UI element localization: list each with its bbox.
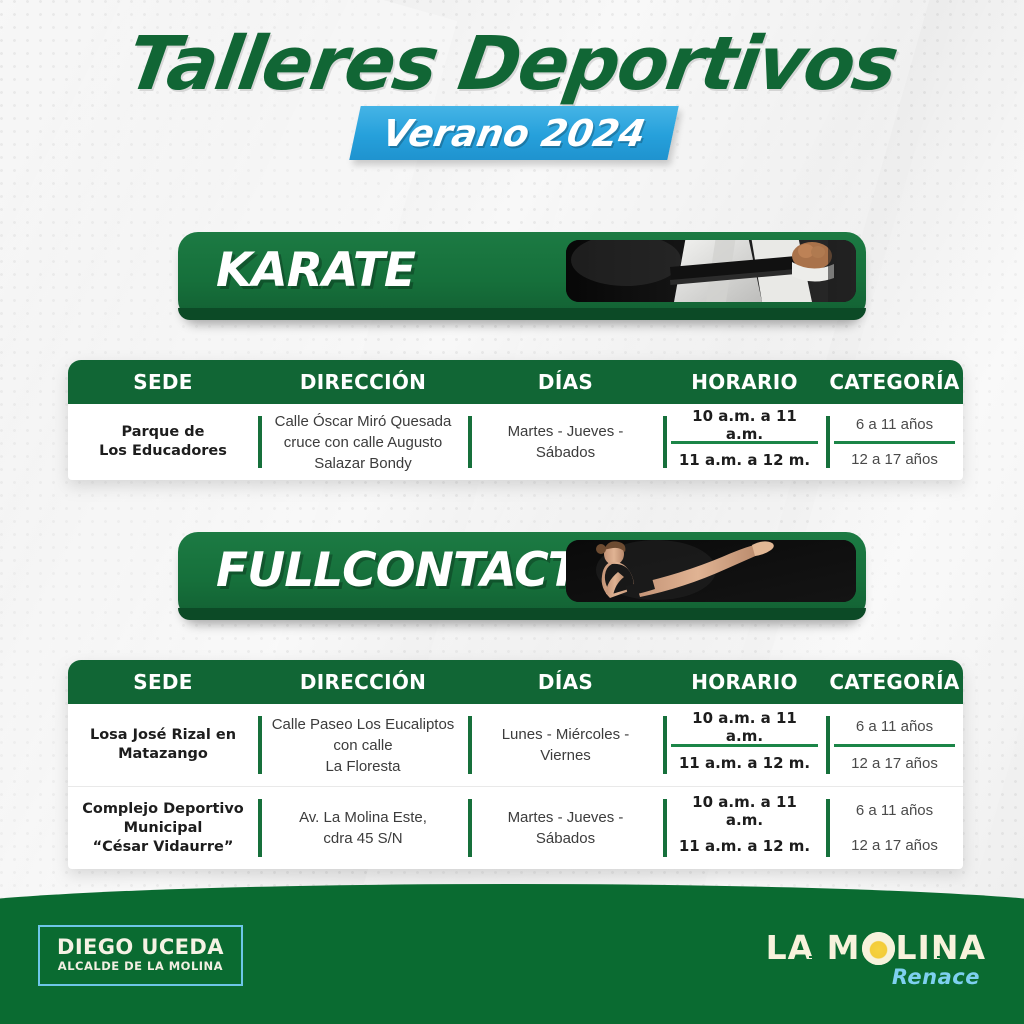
cell-direccion: Calle Paseo Los Eucaliptoscon calleLa Fl…	[258, 704, 468, 786]
sport-banner-karate: KARATE	[178, 232, 866, 320]
schedule-table-karate: SEDE DIRECCIÓN DÍAS HORARIO CATEGORÍA Pa…	[68, 360, 963, 480]
cell-sede: Losa José Rizal enMatazango	[68, 704, 258, 786]
brand-tagline: Renace	[766, 966, 980, 988]
brand-wordmark: LA M LINA	[766, 928, 986, 968]
horario-slot: 11 a.m. a 12 m.	[671, 444, 818, 476]
mayor-role: ALCALDE DE LA MOLINA	[57, 959, 224, 974]
column-header-direccion: DIRECCIÓN	[258, 660, 468, 704]
column-header-horario: HORARIO	[663, 360, 826, 404]
horario-slot: 11 a.m. a 12 m.	[671, 747, 818, 781]
column-header-sede: SEDE	[68, 360, 258, 404]
column-header-categoria: CATEGORÍA	[826, 360, 963, 404]
column-header-direccion: DIRECCIÓN	[258, 360, 468, 404]
cell-horario: 10 a.m. a 11 a.m. 11 a.m. a 12 m.	[663, 404, 826, 480]
banner-bottom-lip	[178, 608, 866, 620]
sun-icon	[862, 932, 895, 965]
cell-sede: Complejo DeportivoMunicipal“César Vidaur…	[68, 787, 258, 869]
table-header-row: SEDE DIRECCIÓN DÍAS HORARIO CATEGORÍA	[68, 360, 963, 404]
karate-belt-photo	[566, 240, 856, 302]
kickboxing-athlete-photo	[566, 540, 856, 602]
table-body: Losa José Rizal enMatazango Calle Paseo …	[68, 704, 963, 869]
title-block: Talleres Deportivos Verano 2024	[0, 24, 1024, 168]
mayor-name: DIEGO UCEDA	[57, 936, 224, 959]
footer-band: DIEGO UCEDA ALCALDE DE LA MOLINA LA M LI…	[0, 884, 1024, 1024]
cell-dias: Martes - Jueves - Sábados	[468, 404, 663, 480]
table-body: Parque deLos Educadores Calle Óscar Miró…	[68, 404, 963, 480]
cell-horario: 10 a.m. a 11 a.m. 11 a.m. a 12 m.	[663, 787, 826, 869]
horario-slot: 10 a.m. a 11 a.m.	[671, 710, 818, 747]
categoria-slot: 6 a 11 años	[834, 793, 955, 828]
table-row: Losa José Rizal enMatazango Calle Paseo …	[68, 704, 963, 786]
brand-logo-la-molina: LA M LINA Renace	[766, 928, 986, 988]
categoria-slot: 12 a 17 años	[834, 828, 955, 863]
cell-horario: 10 a.m. a 11 a.m. 11 a.m. a 12 m.	[663, 704, 826, 786]
sport-banner-fullcontact: FULLCONTACT	[178, 532, 866, 620]
banner-bottom-lip	[178, 308, 866, 320]
horario-slot: 11 a.m. a 12 m.	[671, 828, 818, 863]
cell-categoria: 6 a 11 años 12 a 17 años	[826, 787, 963, 869]
poster-canvas: Talleres Deportivos Verano 2024 KARATE	[0, 0, 1024, 1024]
mayor-badge: DIEGO UCEDA ALCALDE DE LA MOLINA	[38, 925, 243, 986]
brand-word-lina: LINA	[896, 931, 986, 965]
categoria-slot: 12 a 17 años	[834, 444, 955, 476]
cell-categoria: 6 a 11 años 12 a 17 años	[826, 404, 963, 480]
table-header-row: SEDE DIRECCIÓN DÍAS HORARIO CATEGORÍA	[68, 660, 963, 704]
categoria-slot: 6 a 11 años	[834, 710, 955, 747]
brand-word-la-m: LA M	[766, 931, 861, 965]
table-row: Parque deLos Educadores Calle Óscar Miró…	[68, 404, 963, 480]
column-header-dias: DÍAS	[468, 360, 663, 404]
horario-slot: 10 a.m. a 11 a.m.	[671, 793, 818, 828]
sport-title-karate: KARATE	[216, 232, 415, 308]
cell-direccion: Calle Óscar Miró Quesadacruce con calle …	[258, 404, 468, 480]
subtitle-banner: Verano 2024	[0, 106, 1024, 168]
column-header-categoria: CATEGORÍA	[826, 660, 963, 704]
cell-categoria: 6 a 11 años 12 a 17 años	[826, 704, 963, 786]
subtitle-text: Verano 2024	[350, 106, 678, 160]
column-header-dias: DÍAS	[468, 660, 663, 704]
horario-slot: 10 a.m. a 11 a.m.	[671, 409, 818, 444]
schedule-table-fullcontact: SEDE DIRECCIÓN DÍAS HORARIO CATEGORÍA Lo…	[68, 660, 963, 869]
categoria-slot: 6 a 11 años	[834, 409, 955, 444]
sport-title-fullcontact: FULLCONTACT	[216, 532, 579, 608]
column-header-sede: SEDE	[68, 660, 258, 704]
cell-sede: Parque deLos Educadores	[68, 404, 258, 480]
categoria-slot: 12 a 17 años	[834, 747, 955, 781]
cell-dias: Lunes - Miércoles - Viernes	[468, 704, 663, 786]
column-header-horario: HORARIO	[663, 660, 826, 704]
cell-dias: Martes - Jueves - Sábados	[468, 787, 663, 869]
cell-direccion: Av. La Molina Este,cdra 45 S/N	[258, 787, 468, 869]
page-title: Talleres Deportivos	[0, 24, 1024, 104]
table-row: Complejo DeportivoMunicipal“César Vidaur…	[68, 786, 963, 869]
